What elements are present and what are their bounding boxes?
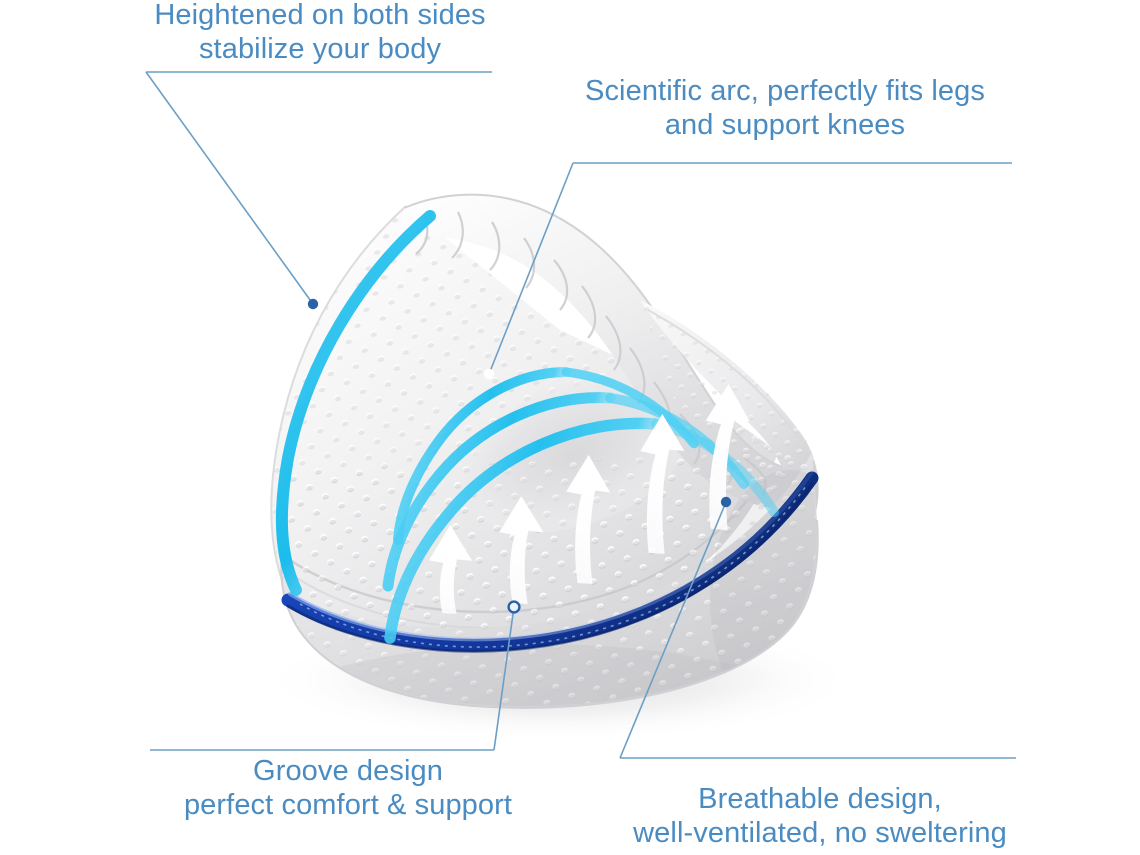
- leader-dot-breathable: [721, 497, 731, 507]
- callout-label-scientific: Scientific arc, perfectly fits legs and …: [505, 74, 1065, 142]
- callout-label-heightened: Heightened on both sides stabilize your …: [60, 0, 580, 66]
- infographic-canvas: Heightened on both sides stabilize your …: [0, 0, 1140, 855]
- leader-dot-heightened: [308, 299, 318, 309]
- leader-dot-groove: [509, 602, 520, 613]
- callout-label-groove: Groove design perfect comfort & support: [148, 754, 548, 822]
- leader-dot-scientific: [484, 369, 494, 379]
- callout-label-breathable: Breathable design, well-ventilated, no s…: [610, 782, 1030, 850]
